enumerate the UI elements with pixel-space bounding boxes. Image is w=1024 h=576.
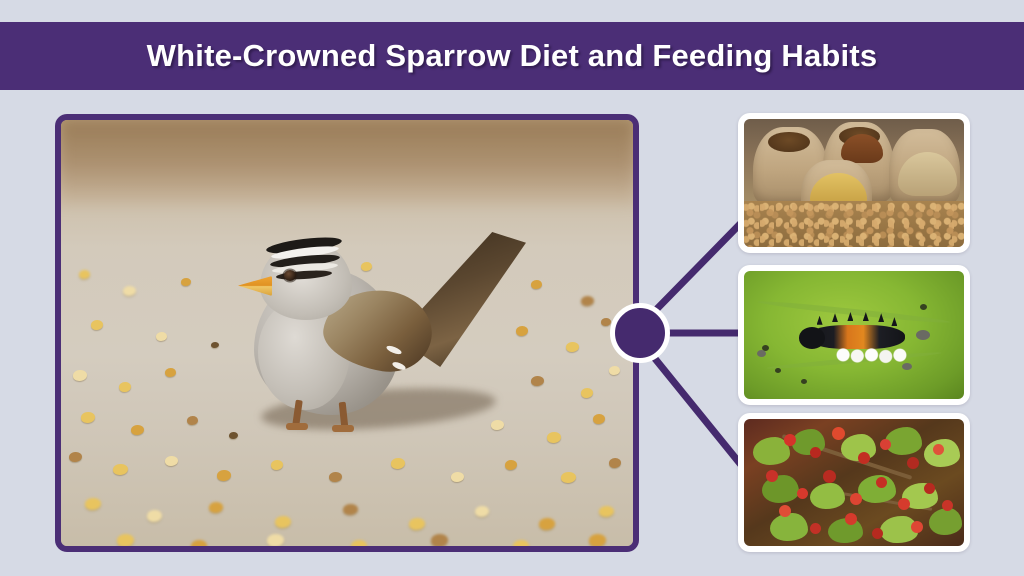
sparrow-eye <box>284 270 296 281</box>
sack-opening <box>768 132 810 152</box>
larva-spike <box>817 316 823 325</box>
leaf <box>885 427 922 455</box>
leaf <box>810 483 845 510</box>
thumbnail-image-seeds <box>744 119 964 247</box>
seeds-scene <box>744 119 964 247</box>
berry <box>832 427 845 440</box>
leaf-scene <box>744 271 964 399</box>
hero-image-sparrow <box>61 120 633 546</box>
berry-scene <box>744 419 964 546</box>
seed-speck <box>117 534 134 546</box>
thumbnail-seeds-and-grains[interactable] <box>738 113 970 253</box>
page-title: White-Crowned Sparrow Diet and Feeding H… <box>147 38 878 74</box>
insect-egg-cluster <box>836 345 906 367</box>
berry <box>810 447 821 458</box>
seed-speck <box>589 534 606 546</box>
connector-line-seeds <box>648 222 742 318</box>
hub-node[interactable] <box>610 303 670 363</box>
connector-line-berries <box>648 350 746 471</box>
leaf <box>770 513 807 541</box>
slide-canvas: White-Crowned Sparrow Diet and Feeding H… <box>0 0 1024 576</box>
berry <box>784 434 796 446</box>
background-blur-band <box>61 120 633 205</box>
leaf-vein <box>757 299 950 326</box>
sparrow-figure <box>236 232 511 447</box>
berry <box>911 521 923 533</box>
leaf-spot <box>920 304 927 310</box>
grain-pile <box>841 134 883 162</box>
berry <box>850 493 862 505</box>
thumbnail-berries-fruit[interactable] <box>738 413 970 552</box>
thumbnail-image-insects <box>744 271 964 399</box>
seed-speck <box>191 540 207 546</box>
berry <box>823 470 836 483</box>
berry <box>907 457 919 469</box>
leaf-spot <box>801 379 807 384</box>
berry <box>810 523 821 534</box>
seed-speck <box>431 534 448 546</box>
berry <box>766 470 778 482</box>
seed-speck <box>351 540 367 546</box>
sparrow-beak <box>238 276 272 296</box>
sparrow-foot <box>286 423 308 430</box>
berry <box>898 498 910 510</box>
title-band: White-Crowned Sparrow Diet and Feeding H… <box>0 22 1024 90</box>
aphid <box>757 350 766 357</box>
leaf-spot <box>775 368 781 373</box>
seed-speck <box>513 540 529 546</box>
berry <box>924 483 935 494</box>
thumbnail-image-berries <box>744 419 964 546</box>
berry <box>872 528 883 539</box>
spilled-grain-floor <box>744 201 964 247</box>
leaf <box>929 508 962 535</box>
aphid <box>916 330 930 340</box>
sparrow-foot <box>332 425 354 432</box>
larva-spike <box>832 313 838 322</box>
thumbnail-insects-larvae[interactable] <box>738 265 970 405</box>
berry <box>797 488 808 499</box>
hero-image-frame[interactable] <box>55 114 639 552</box>
aphid <box>902 363 912 370</box>
seed-speck <box>267 534 284 546</box>
